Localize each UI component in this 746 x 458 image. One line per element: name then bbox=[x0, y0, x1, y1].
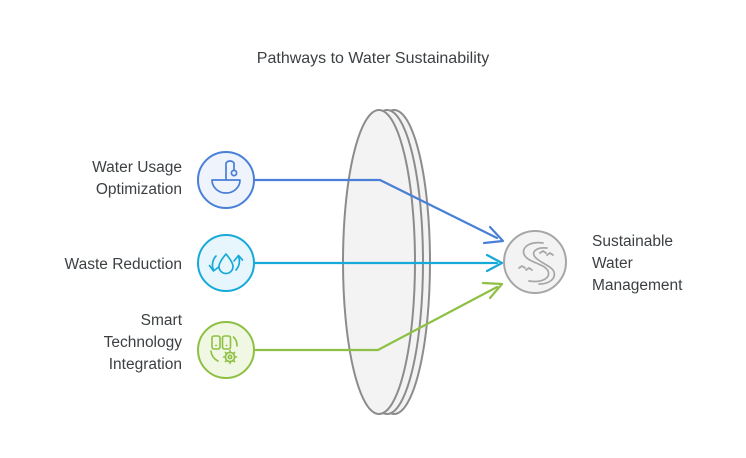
arrowhead-blue bbox=[484, 227, 503, 243]
node-sustainable-water-management[interactable] bbox=[504, 231, 566, 293]
diagram-graphics bbox=[0, 0, 746, 458]
diagram-canvas: Pathways to Water Sustainability Water U… bbox=[0, 0, 746, 458]
node-waste-reduction[interactable] bbox=[198, 235, 254, 291]
node-smart-technology-integration[interactable] bbox=[198, 322, 254, 378]
node-circle-smart-technology[interactable] bbox=[198, 322, 254, 378]
node-circle-waste-reduction[interactable] bbox=[198, 235, 254, 291]
node-water-usage-optimization[interactable] bbox=[198, 152, 254, 208]
